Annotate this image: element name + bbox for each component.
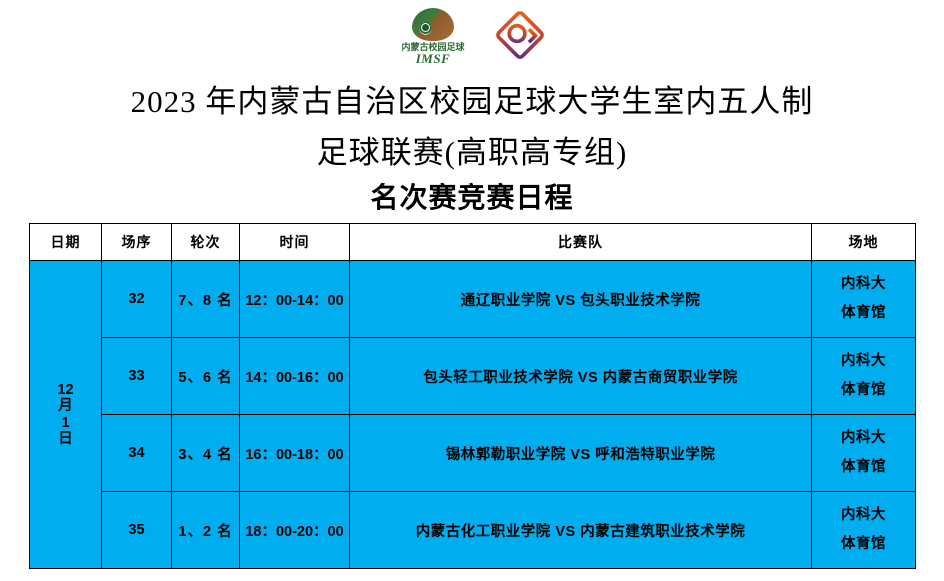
venue-line: 内科大 (841, 507, 886, 523)
venue-line: 体育馆 (841, 382, 886, 398)
cell-round: 3、4 名 (172, 415, 240, 492)
date-part: 12 (32, 382, 99, 398)
cell-venue: 内科大 体育馆 (812, 338, 916, 415)
page-title-line-1: 2023 年内蒙古自治区校园足球大学生室内五人制 (0, 76, 944, 121)
cell-time: 12：00-14：00 (240, 261, 350, 338)
schedule-page: 内蒙古校园足球 IMSF 2023 年内蒙古自治区校园足球大学生室内五人制 (0, 0, 944, 581)
venue-line: 内科大 (841, 353, 886, 369)
tournament-emblem-logo (494, 9, 546, 61)
column-header-round: 轮次 (172, 224, 240, 261)
football-badge-icon (412, 8, 454, 41)
cell-match-no: 32 (102, 261, 172, 338)
table-row: 12 月 1 日 32 7、8 名 12：00-14：00 通辽职业学院 VS … (30, 261, 916, 338)
cell-match-no: 34 (102, 415, 172, 492)
cell-time: 14：00-16：00 (240, 338, 350, 415)
cell-venue: 内科大 体育馆 (812, 492, 916, 569)
date-part: 1 (32, 415, 99, 431)
venue-line: 内科大 (841, 276, 886, 292)
cell-venue: 内科大 体育馆 (812, 261, 916, 338)
logo-row: 内蒙古校园足球 IMSF (0, 8, 944, 66)
column-header-time: 时间 (240, 224, 350, 261)
cell-round: 7、8 名 (172, 261, 240, 338)
cell-round: 1、2 名 (172, 492, 240, 569)
cell-teams: 包头轻工职业技术学院 VS 内蒙古商贸职业学院 (350, 338, 812, 415)
table-row: 33 5、6 名 14：00-16：00 包头轻工职业技术学院 VS 内蒙古商贸… (30, 338, 916, 415)
imsf-logo-english-text: IMSF (398, 51, 468, 67)
page-title-line-2: 足球联赛(高职高专组) (0, 127, 944, 172)
cell-teams: 内蒙古化工职业学院 VS 内蒙古建筑职业技术学院 (350, 492, 812, 569)
cell-teams: 通辽职业学院 VS 包头职业技术学院 (350, 261, 812, 338)
imsf-logo: 内蒙古校园足球 IMSF (398, 8, 468, 64)
table-row: 34 3、4 名 16：00-18：00 锡林郭勒职业学院 VS 呼和浩特职业学… (30, 415, 916, 492)
venue-line: 体育馆 (841, 459, 886, 475)
cell-round: 5、6 名 (172, 338, 240, 415)
page-title-line-3: 名次赛竞赛日程 (0, 176, 944, 216)
column-header-date: 日期 (30, 224, 102, 261)
date-part: 月 (32, 398, 99, 414)
table-row: 35 1、2 名 18：00-20：00 内蒙古化工职业学院 VS 内蒙古建筑职… (30, 492, 916, 569)
table-header-row: 日期 场序 轮次 时间 比赛队 场地 (30, 224, 916, 261)
cell-time: 16：00-18：00 (240, 415, 350, 492)
cell-time: 18：00-20：00 (240, 492, 350, 569)
column-header-match-no: 场序 (102, 224, 172, 261)
schedule-table: 日期 场序 轮次 时间 比赛队 场地 12 月 1 日 32 7 (29, 223, 916, 569)
column-header-venue: 场地 (812, 224, 916, 261)
date-part: 日 (32, 431, 99, 447)
cell-match-no: 35 (102, 492, 172, 569)
cell-match-no: 33 (102, 338, 172, 415)
venue-line: 内科大 (841, 430, 886, 446)
cell-teams: 锡林郭勒职业学院 VS 呼和浩特职业学院 (350, 415, 812, 492)
venue-line: 体育馆 (841, 305, 886, 321)
cell-venue: 内科大 体育馆 (812, 415, 916, 492)
cell-date: 12 月 1 日 (30, 261, 102, 569)
column-header-teams: 比赛队 (350, 224, 812, 261)
venue-line: 体育馆 (841, 536, 886, 552)
